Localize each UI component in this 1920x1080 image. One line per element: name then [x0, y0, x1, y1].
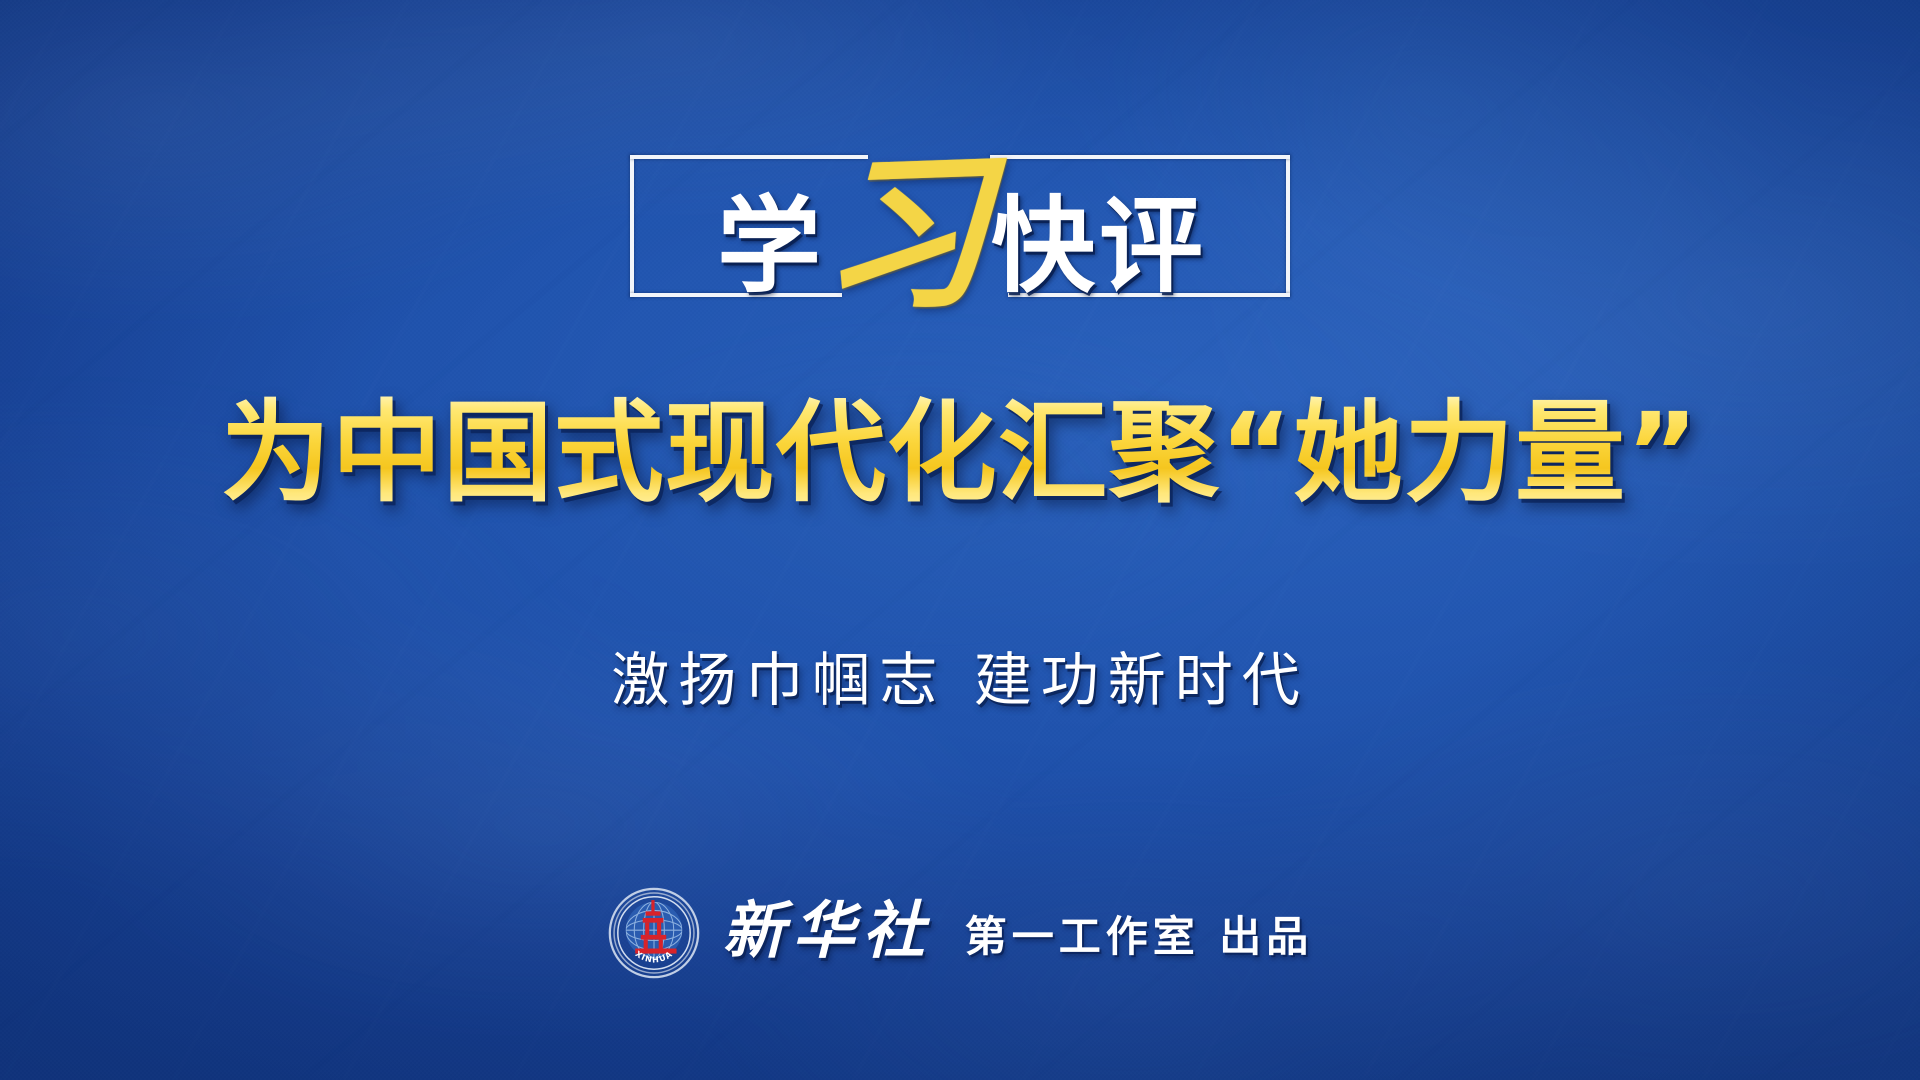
badge-char-ping: 评 [1099, 194, 1203, 298]
xinhua-agency-name: 新华社 [723, 900, 933, 962]
footer-credit: XINHUA 新华社 第一工作室 出品 [0, 886, 1920, 980]
poster-content: 学 习 快 评 为中国式现代化汇聚“她力量” 激扬巾帼志 建功新时代 [0, 0, 1920, 1080]
subtitle-text: 激扬巾帼志 建功新时代 [0, 646, 1920, 716]
headline-title: 为中国式现代化汇聚“她力量” [0, 392, 1920, 515]
badge-characters: 学 习 快 评 [630, 138, 1290, 313]
studio-credit-text: 第一工作室 出品 [965, 916, 1314, 958]
program-badge: 学 习 快 评 [630, 138, 1290, 313]
badge-char-xi: 习 [820, 147, 987, 321]
badge-char-xue: 学 [717, 194, 821, 298]
xinhua-emblem-icon: XINHUA [607, 886, 701, 980]
badge-char-kuai: 快 [991, 194, 1095, 298]
poster-root: 学 习 快 评 为中国式现代化汇聚“她力量” 激扬巾帼志 建功新时代 [0, 0, 1920, 1080]
